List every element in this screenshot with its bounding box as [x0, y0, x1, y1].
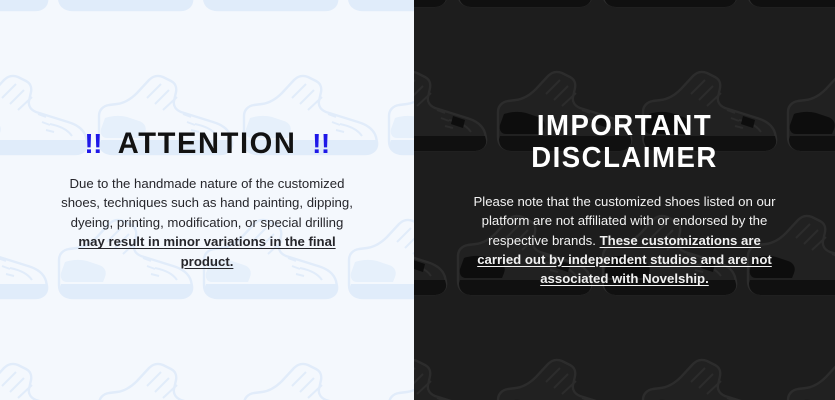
attention-panel: !! ATTENTION !! Due to the handmade natu… [0, 0, 414, 400]
attention-heading-text: ATTENTION [118, 129, 297, 159]
disclaimer-heading-line1: IMPORTANT [442, 111, 808, 143]
double-exclamation-icon-left: !! [84, 130, 102, 158]
customization-disclaimer-banner: !! ATTENTION !! Due to the handmade natu… [0, 0, 835, 400]
disclaimer-heading-line2: DISCLAIMER [442, 143, 808, 175]
attention-body-emphasis: may result in minor variations in the fi… [78, 234, 335, 269]
disclaimer-body: Please note that the customized shoes li… [466, 192, 784, 288]
disclaimer-panel: IMPORTANT DISCLAIMER Please note that th… [414, 0, 835, 400]
attention-body: Due to the handmade nature of the custom… [57, 174, 357, 272]
disclaimer-heading: IMPORTANT DISCLAIMER [432, 111, 817, 175]
attention-heading: !! ATTENTION !! [18, 129, 396, 159]
disclaimer-content: IMPORTANT DISCLAIMER Please note that th… [414, 111, 835, 288]
attention-body-normal: Due to the handmade nature of the custom… [61, 176, 353, 230]
double-exclamation-icon-right: !! [312, 130, 330, 158]
attention-content: !! ATTENTION !! Due to the handmade natu… [0, 129, 414, 272]
